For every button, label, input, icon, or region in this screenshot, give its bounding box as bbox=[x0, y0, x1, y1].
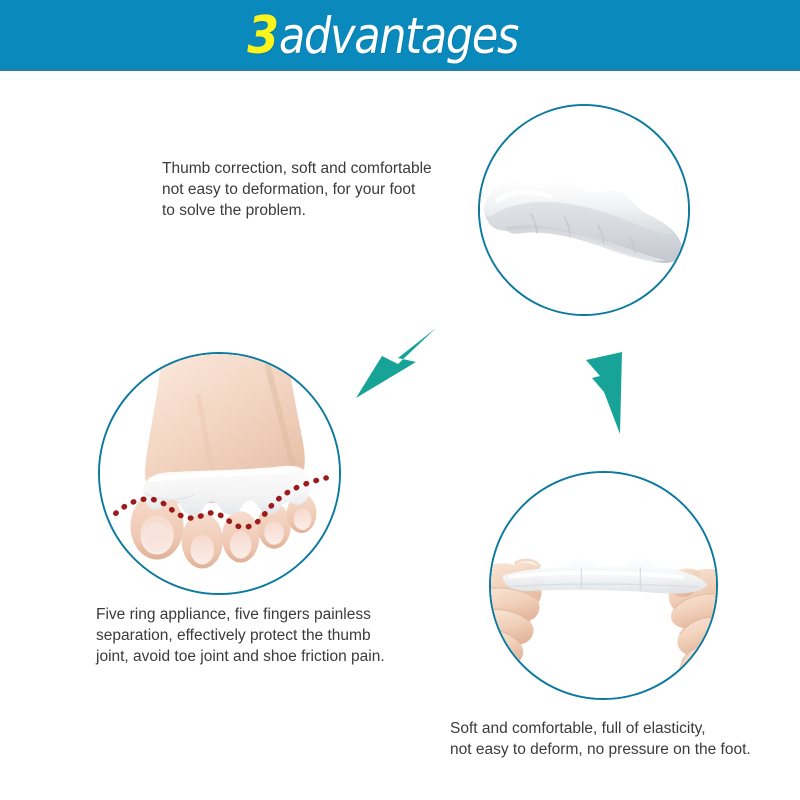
advantage-image-hands-stretching-separator bbox=[489, 471, 718, 700]
infographic-page: 3 advantages Thumb correction, soft and … bbox=[0, 0, 800, 800]
title-number: 3 bbox=[248, 10, 279, 62]
advantage-caption-thumb-correction: Thumb correction, soft and comfortable n… bbox=[162, 158, 482, 221]
title-word: advantages bbox=[279, 11, 518, 61]
page-title: 3 advantages bbox=[0, 0, 800, 71]
foot-wearing-separator-photo bbox=[100, 354, 339, 593]
toe-separator-product-photo bbox=[480, 106, 688, 314]
arrow-to-foot-icon bbox=[352, 322, 438, 402]
arrow-to-stretch-icon bbox=[578, 348, 634, 442]
advantage-image-foot-wearing-separator bbox=[98, 352, 341, 595]
advantage-caption-soft-elastic: Soft and comfortable, full of elasticity… bbox=[450, 718, 790, 760]
hands-stretching-separator-photo bbox=[491, 473, 716, 698]
advantage-caption-five-ring-appliance: Five ring appliance, five fingers painle… bbox=[96, 604, 436, 667]
advantage-image-toe-separator-product bbox=[478, 104, 690, 316]
